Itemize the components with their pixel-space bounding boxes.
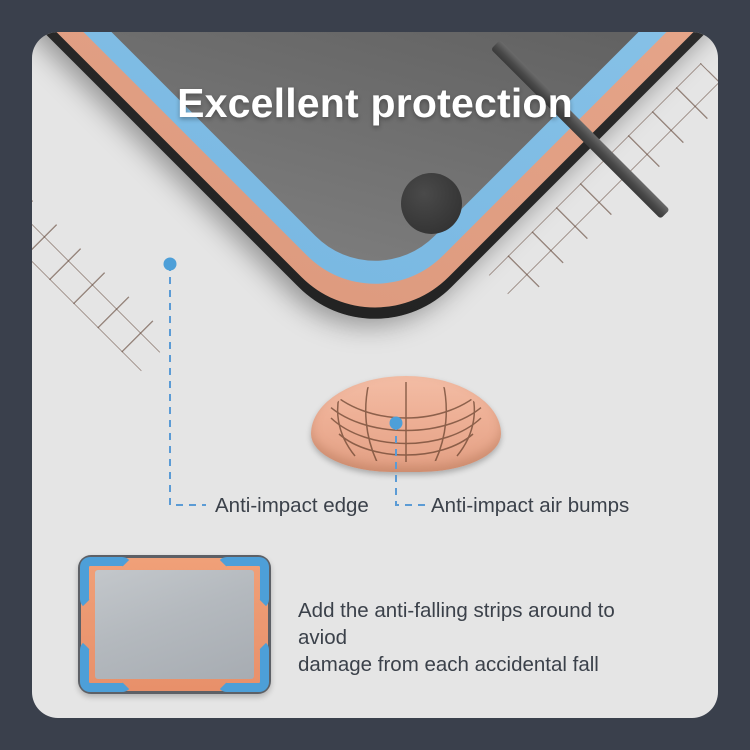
corner-air-bump-pad — [311, 376, 501, 472]
callout-label-anti-impact-edge: Anti-impact edge — [215, 494, 369, 518]
content-panel: Excellent protection Anti-impact edge An… — [32, 32, 718, 718]
thumbnail-shell — [78, 555, 271, 694]
callout-label-anti-impact-air-bumps: Anti-impact air bumps — [431, 494, 629, 518]
rear-camera-icon — [401, 173, 462, 234]
thumbnail-corner-bottom-right — [217, 640, 269, 692]
thumbnail-corner-top-right — [217, 557, 269, 609]
tablet-thumbnail-diagram — [78, 555, 271, 694]
caption-block: Add the anti-falling strips around to av… — [298, 597, 658, 678]
page-title: Excellent protection — [32, 80, 718, 127]
thumbnail-corner-bottom-left — [80, 640, 132, 692]
caption-line-2: damage from each accidental fall — [298, 651, 658, 678]
corner-bump-mesh-pattern — [321, 382, 491, 462]
thumbnail-corner-top-left — [80, 557, 132, 609]
infographic-root: Excellent protection Anti-impact edge An… — [0, 0, 750, 750]
caption-line-1: Add the anti-falling strips around to av… — [298, 597, 658, 651]
left-edge-mesh-pattern — [32, 128, 172, 371]
